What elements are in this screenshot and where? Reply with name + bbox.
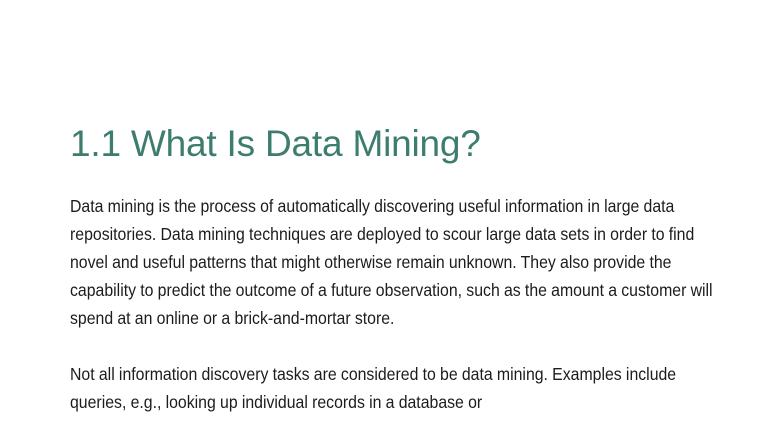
page-title: 1.1 What Is Data Mining? [70,122,481,166]
body-content: Data mining is the process of automatica… [70,192,725,416]
document-page: 1.1 What Is Data Mining? Data mining is … [0,0,784,441]
paragraph-1: Data mining is the process of automatica… [70,192,724,332]
paragraph-2: Not all information discovery tasks are … [70,360,724,416]
